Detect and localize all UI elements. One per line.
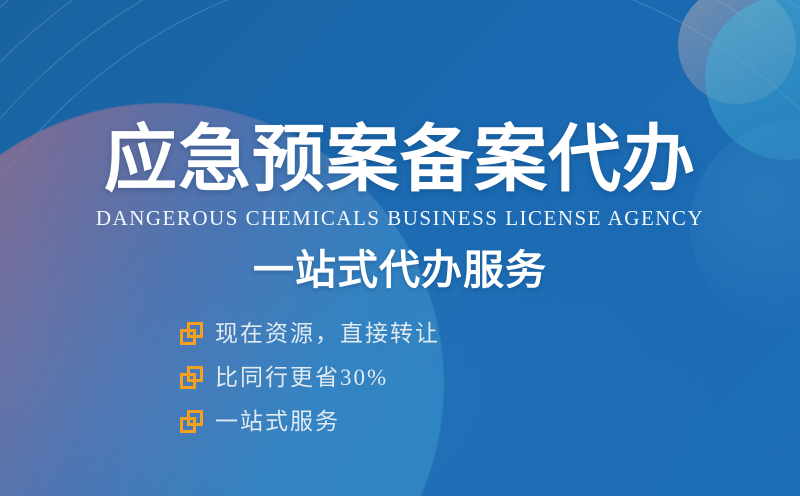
banner-english-subtitle: DANGEROUS CHEMICALS BUSINESS LICENSE AGE… (0, 206, 800, 230)
list-item: 比同行更省30% (180, 359, 600, 397)
banner-main-title: 应急预案备案代办 (0, 118, 800, 202)
banner-secondary-title: 一站式代办服务 (0, 247, 800, 293)
overlapping-squares-icon (180, 322, 204, 346)
promo-banner: 应急预案备案代办 DANGEROUS CHEMICALS BUSINESS LI… (0, 0, 800, 496)
list-item-label: 现在资源，直接转让 (215, 319, 440, 349)
list-item: 现在资源，直接转让 (180, 315, 600, 353)
banner-content: 应急预案备案代办 DANGEROUS CHEMICALS BUSINESS LI… (0, 0, 800, 496)
overlapping-squares-icon (180, 366, 204, 390)
list-item-label: 一站式服务 (215, 407, 340, 437)
list-item-label: 比同行更省30% (215, 363, 388, 393)
list-item: 一站式服务 (180, 403, 600, 441)
overlapping-squares-icon (180, 410, 204, 434)
feature-list: 现在资源，直接转让 比同行更省30% 一站式服务 (180, 315, 600, 447)
